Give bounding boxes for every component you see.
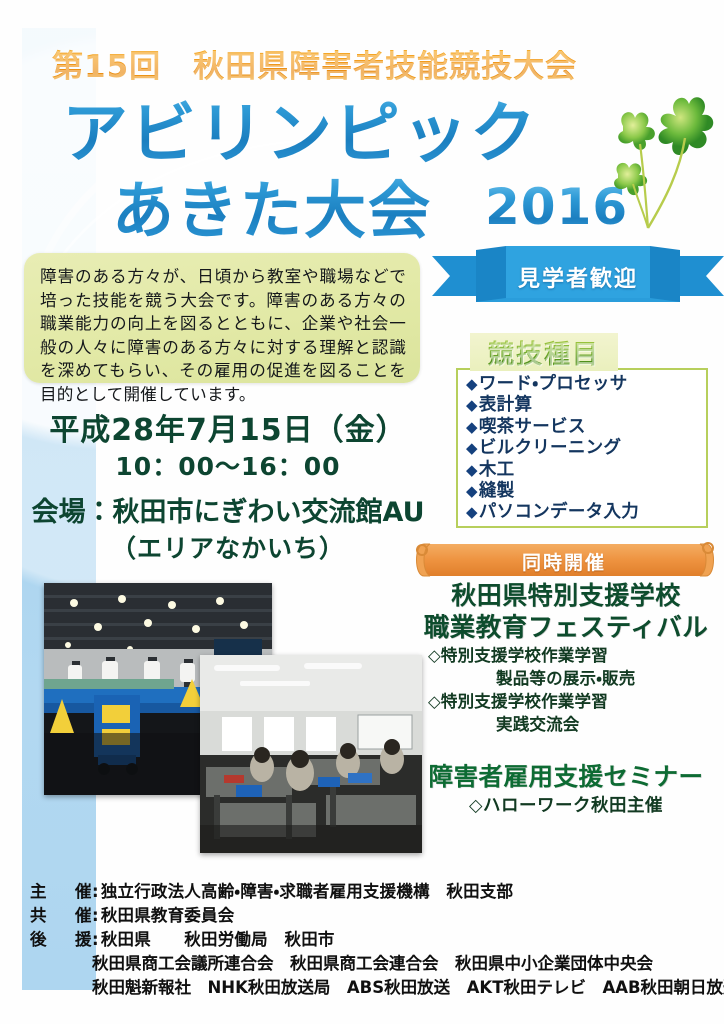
sponsor-continuation-2: 秋田魁新報社 NHK秋田放送局 ABS秋田放送 AKT秋田テレビ AAB秋田朝日…	[92, 976, 710, 1000]
photo-workshop-classroom	[200, 655, 422, 853]
event-label: 木工	[479, 460, 515, 480]
event-item: ◆パソコンデータ入力	[466, 502, 706, 523]
visitors-welcome-ribbon: 見学者歓迎	[432, 244, 724, 310]
festival-item-2-line2: 実践交流会	[496, 713, 718, 736]
concurrent-banner-label: 同時開催	[410, 548, 718, 575]
poster-root: 第15回 秋田県障害者技能競技大会 アビリンピック あきた大会 2016	[0, 0, 724, 1024]
diamond-bullet-icon: ◆	[466, 439, 478, 457]
sponsor-value: 独立行政法人高齢・障害・求職者雇用支援機構 秋田支部	[101, 880, 513, 904]
event-label: ワード・プロセッサ	[479, 374, 628, 394]
event-venue-sub: （エリアなかいち）	[28, 532, 428, 566]
festival-title-line1: 秋田県特別支援学校	[414, 580, 718, 612]
diamond-bullet-icon: ◆	[466, 461, 478, 479]
sponsor-sep: :	[92, 880, 99, 904]
sponsors-section: 主 催 : 独立行政法人高齢・障害・求職者雇用支援機構 秋田支部 共 催 : 秋…	[30, 880, 710, 1000]
schedule-block: 平成28年7月15日（金） 10：00〜16：00 会場：秋田市にぎわい交流館A…	[28, 412, 428, 566]
concurrent-section: 秋田県特別支援学校 職業教育フェスティバル ◇特別支援学校作業学習 製品等の展示…	[414, 580, 718, 819]
photo-2-content	[200, 655, 422, 853]
sponsor-key: 後 援	[30, 928, 92, 952]
sponsor-key: 共 催	[30, 904, 92, 928]
event-item: ◆木工	[466, 460, 706, 481]
event-item: ◆ビルクリーニング	[466, 438, 706, 459]
sponsor-key: 主 催	[30, 880, 92, 904]
sponsor-sep: :	[92, 904, 99, 928]
events-heading-text: 競技種目	[488, 334, 600, 371]
diamond-bullet-icon: ◆	[466, 396, 478, 414]
event-venue: 会場：秋田市にぎわい交流館AU	[28, 494, 428, 532]
sponsor-row: 共 催 : 秋田県教育委員会	[30, 904, 710, 928]
sponsor-sep: :	[92, 928, 99, 952]
diamond-bullet-icon: ◆	[466, 482, 478, 500]
sponsor-value: 秋田県教育委員会	[101, 904, 235, 928]
event-item: ◆喫茶サービス	[466, 417, 706, 438]
spacer	[414, 736, 718, 760]
main-title-line2: あきた大会	[112, 160, 432, 250]
event-item: ◆表計算	[466, 395, 706, 416]
poster-header: 第15回 秋田県障害者技能競技大会 アビリンピック あきた大会 2016	[0, 0, 724, 245]
diamond-bullet-icon: ◆	[466, 418, 478, 436]
concurrent-banner: 同時開催	[410, 538, 718, 580]
description-box: 障害のある方々が、日頃から教室や職場などで培った技能を競う大会です。障害のある方…	[24, 253, 420, 383]
event-item: ◆縫製	[466, 481, 706, 502]
festival-item-2-line1: ◇特別支援学校作業学習	[428, 690, 718, 713]
sponsor-value: 秋田県 秋田労働局 秋田市	[101, 928, 335, 952]
event-label: 喫茶サービス	[479, 417, 586, 437]
event-date: 平成28年7月15日（金）	[28, 412, 428, 450]
diamond-bullet-icon: ◆	[466, 375, 478, 393]
sponsor-row: 主 催 : 独立行政法人高齢・障害・求職者雇用支援機構 秋田支部	[30, 880, 710, 904]
festival-item-1-line2: 製品等の展示・販売	[496, 667, 718, 690]
events-heading: 競技種目	[470, 333, 618, 371]
clover-icon	[588, 78, 718, 253]
events-list: ◆ワード・プロセッサ ◆表計算 ◆喫茶サービス ◆ビルクリーニング ◆木工 ◆縫…	[466, 374, 706, 524]
diamond-bullet-icon: ◆	[466, 503, 478, 521]
event-label: ビルクリーニング	[479, 438, 621, 458]
event-label: 表計算	[479, 395, 532, 415]
festival-item-1-line1: ◇特別支援学校作業学習	[428, 644, 718, 667]
seminar-subtitle: ◇ハローワーク秋田主催	[414, 793, 718, 819]
event-label: 縫製	[479, 481, 515, 501]
event-item: ◆ワード・プロセッサ	[466, 374, 706, 395]
event-time: 10：00〜16：00	[28, 450, 428, 484]
seminar-title: 障害者雇用支援セミナー	[414, 760, 718, 793]
event-label: パソコンデータ入力	[479, 502, 639, 522]
sponsor-continuation-1: 秋田県商工会議所連合会 秋田県商工会連合会 秋田県中小企業団体中央会	[92, 952, 710, 976]
sponsor-row: 後 援 : 秋田県 秋田労働局 秋田市	[30, 928, 710, 952]
events-list-box: ◆ワード・プロセッサ ◆表計算 ◆喫茶サービス ◆ビルクリーニング ◆木工 ◆縫…	[456, 368, 708, 528]
ribbon-label: 見学者歓迎	[432, 261, 724, 293]
festival-title-line2: 職業教育フェスティバル	[414, 612, 718, 644]
